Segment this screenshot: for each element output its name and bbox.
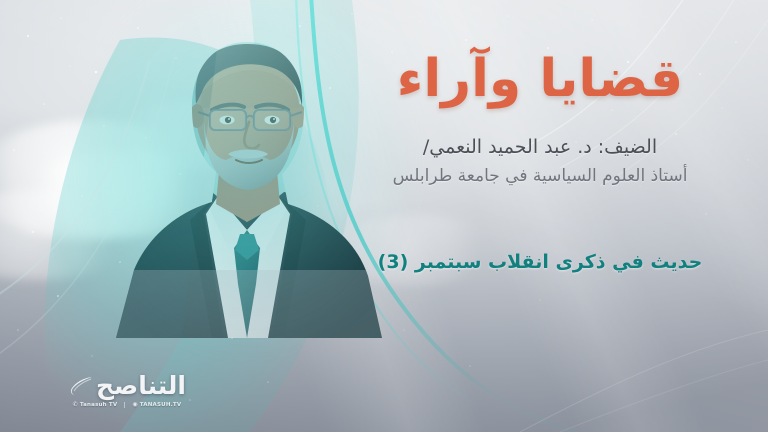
episode-topic: حديث في ذكرى انقلاب سبتمبر (3) <box>340 249 740 276</box>
guest-role: أستاذ العلوم السياسية في جامعة طرابلس <box>340 163 740 189</box>
logo-wordmark: التناصح <box>96 373 186 398</box>
social-handle-text: TANASUH.TV <box>140 402 182 408</box>
social-handle: ◉ TANASUH.TV <box>132 402 181 408</box>
social-handle-text: Tanasuh TV <box>80 402 117 408</box>
phone-icon: ✆ <box>73 402 78 408</box>
logo-row: التناصح <box>52 373 202 398</box>
guest-name: الضيف: د. عبد الحميد النعمي/ <box>340 133 740 162</box>
logo-social-handles: ✆ Tanasuh TV ◉ TANASUH.TV <box>52 402 202 408</box>
page-title: قضايا وآراء <box>340 52 740 107</box>
logo-swoosh-icon <box>68 375 94 397</box>
globe-icon: ◉ <box>132 402 137 408</box>
title-card: قضايا وآراء الضيف: د. عبد الحميد النعمي/… <box>0 0 768 432</box>
channel-logo: التناصح ✆ Tanasuh TV ◉ TANASUH.TV <box>52 373 202 408</box>
handle-separator <box>124 402 125 408</box>
social-handle: ✆ Tanasuh TV <box>73 402 118 408</box>
program-text-block: قضايا وآراء الضيف: د. عبد الحميد النعمي/… <box>340 52 740 276</box>
